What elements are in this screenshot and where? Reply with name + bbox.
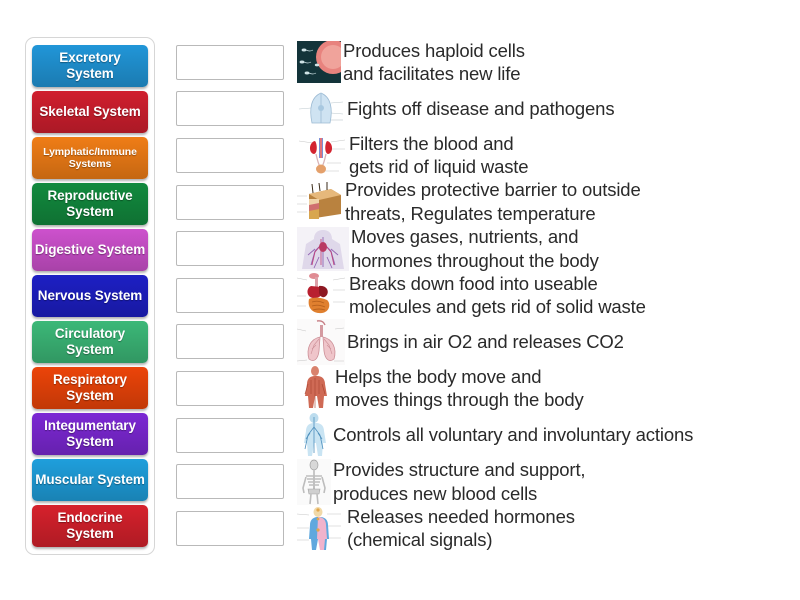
answer-row: Controls all voluntary and involuntary a…	[176, 412, 786, 459]
dropzone-4[interactable]	[176, 185, 284, 220]
prompt-description: Releases needed hormones (chemical signa…	[347, 505, 575, 552]
dropzone-3[interactable]	[176, 138, 284, 173]
prompt-description: Breaks down food into useable molecules …	[349, 272, 646, 319]
prompt-description: Brings in air O2 and releases CO2	[347, 330, 624, 354]
answer-rows-panel: Produces haploid cells and facilitates n…	[176, 39, 786, 552]
system-tile-nervous-system[interactable]: Nervous System	[32, 275, 148, 317]
prompt-item: Moves gases, nutrients, and hormones thr…	[297, 225, 786, 272]
prompt-description: Controls all voluntary and involuntary a…	[333, 423, 693, 447]
system-tile-muscular-system[interactable]: Muscular System	[32, 459, 148, 501]
dropzone-6[interactable]	[176, 278, 284, 313]
system-tile-skeletal-system[interactable]: Skeletal System	[32, 91, 148, 133]
prompt-description: Produces haploid cells and facilitates n…	[343, 39, 525, 86]
answer-row: Provides protective barrier to outside t…	[176, 179, 786, 226]
prompt-item: Filters the blood and gets rid of liquid…	[297, 132, 786, 179]
skeletal-system-image	[297, 459, 331, 505]
excretory-system-image	[297, 133, 347, 177]
prompt-item: Breaks down food into useable molecules …	[297, 272, 786, 319]
prompt-item: Releases needed hormones (chemical signa…	[297, 505, 786, 552]
dropzone-9[interactable]	[176, 418, 284, 453]
circulatory-system-image	[297, 227, 349, 271]
prompt-item: Produces haploid cells and facilitates n…	[297, 39, 786, 86]
reproductive-system-image	[297, 41, 341, 83]
nervous-system-image	[297, 413, 331, 457]
lymphatic-immune-system-image	[297, 89, 345, 129]
system-tile-endocrine-system[interactable]: Endocrine System	[32, 505, 148, 547]
answer-row: Brings in air O2 and releases CO2	[176, 319, 786, 366]
prompt-item: Fights off disease and pathogens	[297, 89, 786, 129]
prompt-item: Helps the body move and moves things thr…	[297, 365, 786, 412]
prompt-item: Provides protective barrier to outside t…	[297, 178, 786, 225]
system-tiles-panel: Excretory SystemSkeletal SystemLymphatic…	[25, 37, 155, 555]
dropzone-10[interactable]	[176, 464, 284, 499]
prompt-description: Provides protective barrier to outside t…	[345, 178, 641, 225]
dropzone-5[interactable]	[176, 231, 284, 266]
system-tile-respiratory-system[interactable]: Respiratory System	[32, 367, 148, 409]
system-tile-integumentary-system[interactable]: Integumentary System	[32, 413, 148, 455]
answer-row: Helps the body move and moves things thr…	[176, 365, 786, 412]
answer-row: Fights off disease and pathogens	[176, 86, 786, 133]
prompt-item: Provides structure and support, produces…	[297, 458, 786, 505]
dropzone-1[interactable]	[176, 45, 284, 80]
prompt-description: Filters the blood and gets rid of liquid…	[349, 132, 528, 179]
prompt-description: Moves gases, nutrients, and hormones thr…	[351, 225, 599, 272]
integumentary-system-image	[297, 182, 343, 222]
digestive-system-image	[297, 272, 347, 318]
system-tile-circulatory-system[interactable]: Circulatory System	[32, 321, 148, 363]
prompt-item: Brings in air O2 and releases CO2	[297, 319, 786, 365]
prompt-item: Controls all voluntary and involuntary a…	[297, 413, 786, 457]
prompt-description: Helps the body move and moves things thr…	[335, 365, 584, 412]
dropzone-8[interactable]	[176, 371, 284, 406]
endocrine-system-image	[297, 506, 345, 550]
muscular-system-image	[297, 366, 333, 410]
answer-row: Produces haploid cells and facilitates n…	[176, 39, 786, 86]
system-tile-digestive-system[interactable]: Digestive System	[32, 229, 148, 271]
answer-row: Filters the blood and gets rid of liquid…	[176, 132, 786, 179]
prompt-description: Fights off disease and pathogens	[347, 97, 614, 121]
answer-row: Breaks down food into useable molecules …	[176, 272, 786, 319]
prompt-description: Provides structure and support, produces…	[333, 458, 585, 505]
dropzone-11[interactable]	[176, 511, 284, 546]
answer-row: Provides structure and support, produces…	[176, 458, 786, 505]
answer-row: Releases needed hormones (chemical signa…	[176, 505, 786, 552]
respiratory-system-image	[297, 319, 345, 365]
dropzone-7[interactable]	[176, 324, 284, 359]
system-tile-excretory-system[interactable]: Excretory System	[32, 45, 148, 87]
answer-row: Moves gases, nutrients, and hormones thr…	[176, 225, 786, 272]
system-tile-reproductive-system[interactable]: Reproductive System	[32, 183, 148, 225]
dropzone-2[interactable]	[176, 91, 284, 126]
system-tile-lymphatic-immune-systems[interactable]: Lymphatic/Immune Systems	[32, 137, 148, 179]
